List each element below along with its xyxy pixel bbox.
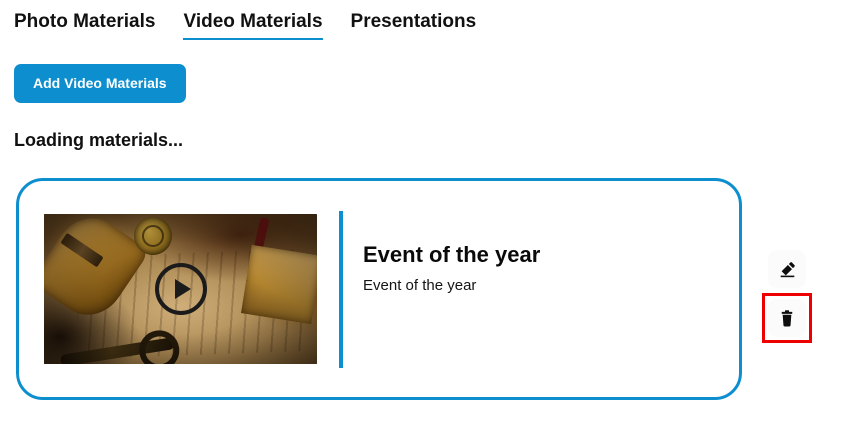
delete-button-highlight (762, 293, 812, 343)
card-title: Event of the year (363, 241, 739, 269)
tab-video-materials[interactable]: Video Materials (183, 10, 322, 40)
tab-bar: Photo Materials Video Materials Presenta… (14, 10, 476, 40)
card-actions (762, 250, 812, 343)
trash-icon (779, 310, 795, 327)
pencil-icon (778, 260, 797, 279)
loading-status-text: Loading materials... (14, 127, 183, 153)
tab-photo-materials[interactable]: Photo Materials (14, 10, 155, 40)
edit-button[interactable] (768, 250, 806, 288)
card-divider (339, 211, 343, 368)
card-info: Event of the year Event of the year (363, 241, 739, 337)
delete-button[interactable] (768, 299, 806, 337)
video-material-card: Event of the year Event of the year (16, 178, 742, 400)
tab-presentations[interactable]: Presentations (351, 10, 477, 40)
add-video-materials-button[interactable]: Add Video Materials (14, 64, 186, 103)
play-icon[interactable] (155, 263, 207, 315)
card-subtitle: Event of the year (363, 275, 739, 297)
video-thumbnail[interactable] (44, 214, 317, 364)
